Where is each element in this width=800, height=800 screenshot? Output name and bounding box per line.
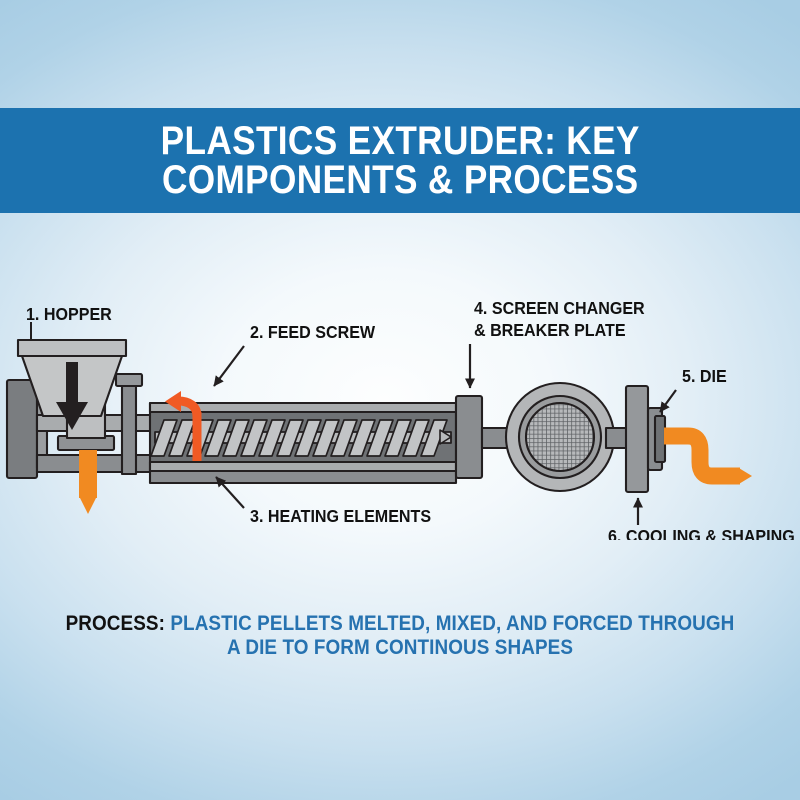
frame-plate-right-top	[116, 374, 142, 386]
frame-plate-right	[122, 378, 136, 474]
label-hopper: 1. HOPPER	[26, 304, 112, 324]
label-heating-elements: 3. HEATING ELEMENTS	[250, 506, 431, 526]
extruder-schematic: 1. HOPPER 2. FEED SCREW 3. HEATING ELEME…	[0, 270, 800, 540]
die-orifice-block	[655, 416, 665, 462]
label-cooling-shaping: 6. COOLING & SHAPING	[608, 526, 795, 540]
drive-arrow-icon	[79, 450, 97, 514]
caption-body-line-1: Plastic Pellets Melted, Mixed, and Force…	[170, 612, 734, 635]
extrudate-tip	[738, 468, 752, 485]
caption-body-line-2: A Die to Form Continous Shapes	[40, 636, 760, 660]
process-caption: Process: Plastic Pellets Melted, Mixed, …	[0, 612, 800, 661]
extruder-diagram: 1. HOPPER 2. FEED SCREW 3. HEATING ELEME…	[0, 270, 800, 540]
label-feed-screw: 2. FEED SCREW	[250, 322, 375, 342]
barrel-wall-bottom	[150, 462, 456, 471]
caption-lead: Process:	[66, 612, 165, 635]
barrel-end-flange	[456, 396, 482, 478]
breaker-plate-mesh	[526, 403, 594, 471]
page-title: Plastics Extruder: Key Components & Proc…	[160, 122, 639, 200]
caption-line-1: Process: Plastic Pellets Melted, Mixed, …	[40, 612, 760, 636]
die-plate	[626, 386, 648, 492]
title-banner: Plastics Extruder: Key Components & Proc…	[0, 108, 800, 213]
leader-feed-screw	[214, 346, 244, 386]
motor-block	[7, 380, 37, 478]
label-die: 5. DIE	[682, 366, 727, 386]
leader-die	[660, 390, 676, 412]
hopper-flange	[18, 340, 126, 356]
heating-elements-band	[150, 471, 456, 483]
label-breaker-plate: & BREAKER PLATE	[474, 320, 626, 340]
s-bend-pipe-icon	[664, 436, 740, 476]
frame-bar-lower	[37, 455, 161, 472]
infographic-canvas: Plastics Extruder: Key Components & Proc…	[0, 0, 800, 800]
label-screen-changer: 4. SCREEN CHANGER	[474, 298, 645, 318]
